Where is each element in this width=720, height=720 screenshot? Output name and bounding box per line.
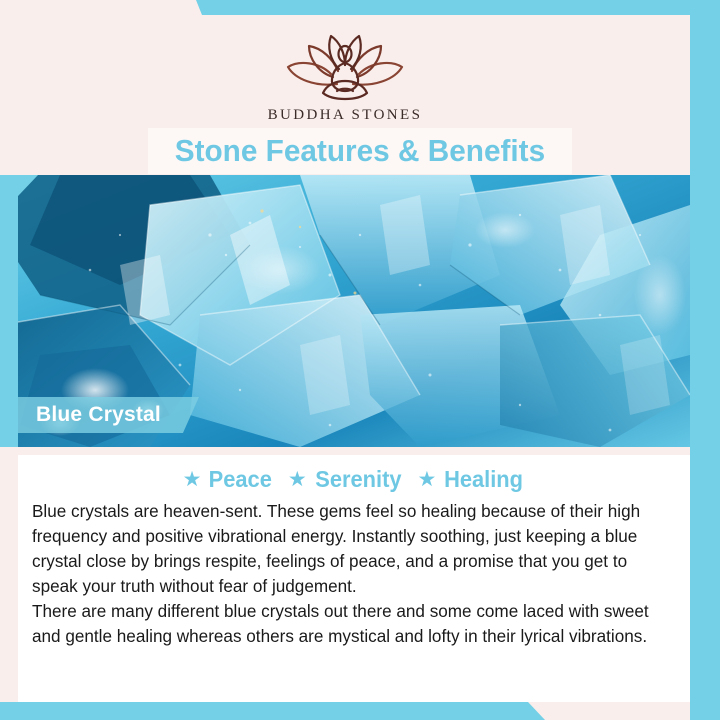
- star-icon: ★: [183, 469, 202, 490]
- hero-left-accent-strip: [0, 175, 18, 447]
- bottom-accent-band: [0, 702, 720, 720]
- paragraph-2: There are many different blue crystals o…: [32, 599, 666, 649]
- benefit-label-serenity: Serenity: [315, 466, 401, 493]
- brand-name: BUDDHA STONES: [268, 107, 423, 124]
- infographic-page: BUDDHA STONES: [0, 0, 720, 720]
- paragraph-1: Blue crystals are heaven-sent. These gem…: [32, 499, 666, 599]
- right-accent-strip: [690, 0, 720, 720]
- hero-caption-label: Blue Crystal: [36, 403, 161, 427]
- benefit-item-healing: ★ Healing: [418, 466, 526, 493]
- content-card: ★ Peace ★ Serenity ★ Healing Blue crysta…: [18, 455, 690, 702]
- hero-caption-chip: Blue Crystal: [18, 397, 199, 433]
- lotus-meditation-icon: [275, 29, 415, 101]
- benefit-item-peace: ★ Peace: [183, 466, 274, 493]
- body-copy: Blue crystals are heaven-sent. These gem…: [18, 493, 690, 649]
- benefits-row: ★ Peace ★ Serenity ★ Healing: [18, 455, 690, 493]
- benefit-item-serenity: ★ Serenity: [288, 466, 404, 493]
- page-title: Stone Features & Benefits: [175, 133, 545, 169]
- page-title-band: Stone Features & Benefits: [148, 128, 572, 174]
- benefit-label-peace: Peace: [209, 466, 272, 493]
- hero-image: Blue Crystal: [0, 175, 690, 447]
- logo-lockup: BUDDHA STONES: [0, 15, 690, 124]
- benefit-label-healing: Healing: [444, 466, 523, 493]
- star-icon: ★: [288, 469, 307, 490]
- star-icon: ★: [418, 469, 437, 490]
